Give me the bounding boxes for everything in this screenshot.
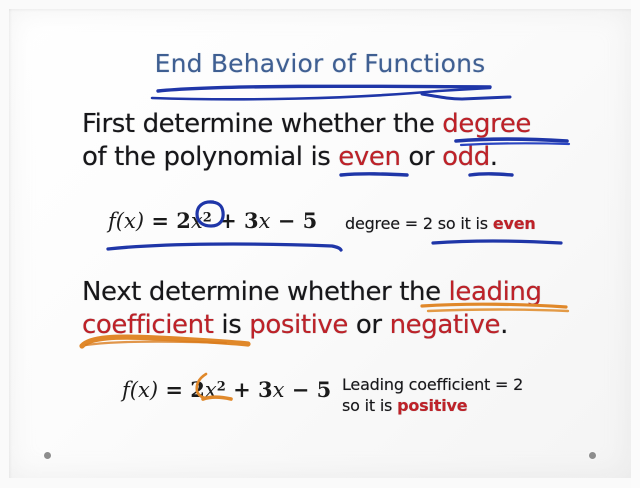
step2-note-keyword-positive: positive: [397, 396, 467, 415]
board-edge-shadow-top: [9, 9, 631, 12]
step2-note-line1: Leading coefficient = 2: [342, 374, 523, 395]
eq1-op3: −: [270, 208, 302, 233]
step2-equation: f(x) = 2x2 + 3x − 5: [122, 377, 331, 402]
step1-note: degree = 2 so it is even: [345, 213, 536, 234]
eq2-arg: x: [138, 378, 150, 402]
eq1-fn: f: [108, 209, 116, 233]
eq2-op2: +: [226, 377, 258, 402]
eq2-var: x: [205, 378, 217, 402]
slide-frame-bottom: [0, 478, 640, 488]
eq1-const: 5: [303, 208, 318, 233]
step1-line2-period: .: [490, 142, 498, 172]
eq2-coef: 2: [190, 377, 205, 402]
step2-note: Leading coefficient = 2 so it is positiv…: [342, 374, 523, 416]
keyword-degree: degree: [442, 109, 531, 139]
step1-note-keyword-even: even: [493, 214, 536, 233]
board-edge-shadow-left: [9, 9, 12, 478]
step2-paragraph: Next determine whether the leading coeff…: [82, 276, 542, 342]
step2-line2: coefficient is positive or negative.: [82, 309, 542, 342]
eq1-op2: +: [212, 208, 244, 233]
eq1-var: x: [191, 209, 203, 233]
bullet-dot-left: [44, 452, 51, 459]
eq2-open: (: [130, 378, 138, 402]
slide-canvas: End Behavior of Functions First determin…: [0, 0, 640, 488]
keyword-leading: leading: [449, 277, 542, 307]
eq2-const: 5: [317, 377, 332, 402]
eq2-fn: f: [122, 378, 130, 402]
eq1-arg: x: [124, 209, 136, 233]
step1-equation: f(x) = 2x2 + 3x − 5: [108, 208, 317, 233]
eq1-var2: x: [259, 209, 271, 233]
step2-line1: Next determine whether the leading: [82, 276, 542, 309]
slide-frame-top: [0, 0, 640, 9]
keyword-negative: negative: [390, 310, 501, 340]
eq2-coef2: 3: [258, 377, 273, 402]
eq2-close: ): [150, 378, 158, 402]
eq1-coef: 2: [176, 208, 191, 233]
eq1-exponent: 2: [203, 211, 212, 226]
step1-line2: of the polynomial is even or odd.: [82, 141, 531, 174]
keyword-odd: odd: [442, 142, 490, 172]
step1-line2-or: or: [401, 142, 443, 172]
step2-line2-is: is: [214, 310, 250, 340]
keyword-coefficient: coefficient: [82, 310, 214, 340]
eq1-equals: =: [144, 208, 176, 233]
eq1-coef2: 3: [244, 208, 259, 233]
step2-line2-or: or: [348, 310, 390, 340]
step1-line2-text: of the polynomial is: [82, 142, 338, 172]
step2-line1-text: Next determine whether the: [82, 277, 449, 307]
keyword-even: even: [338, 142, 400, 172]
keyword-positive: positive: [249, 310, 348, 340]
eq1-open: (: [116, 209, 124, 233]
step1-note-text: degree = 2 so it is: [345, 214, 493, 233]
bullet-dot-right: [589, 452, 596, 459]
eq2-var2: x: [273, 378, 285, 402]
step2-note-line2-text: so it is: [342, 396, 397, 415]
slide-title: End Behavior of Functions: [0, 49, 640, 78]
eq1-close: ): [136, 209, 144, 233]
eq2-exponent: 2: [217, 380, 226, 395]
eq2-op3: −: [284, 377, 316, 402]
step1-paragraph: First determine whether the degree of th…: [82, 108, 531, 174]
step2-line2-period: .: [500, 310, 508, 340]
eq2-equals: =: [158, 377, 190, 402]
step2-note-line2: so it is positive: [342, 395, 523, 416]
step1-line1: First determine whether the degree: [82, 108, 531, 141]
step1-line1-text: First determine whether the: [82, 109, 442, 139]
whiteboard-surface: [9, 9, 631, 478]
